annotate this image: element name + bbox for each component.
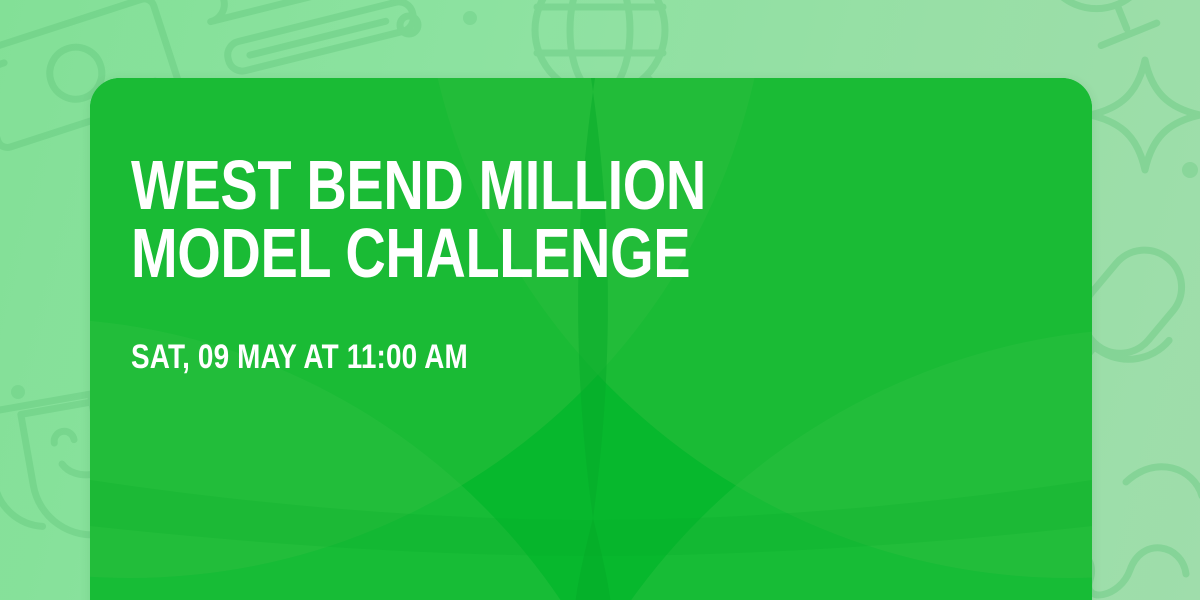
card-content: West Bend Million Model Challenge Sat, 0… [131,152,1032,374]
sparkle-icon [1090,60,1200,170]
event-title: West Bend Million Model Challenge [131,152,852,288]
event-datetime: Sat, 09 May at 11:00 AM [131,340,870,374]
ticket-icon [202,0,416,76]
event-card[interactable]: West Bend Million Model Challenge Sat, 0… [90,78,1092,600]
event-banner: West Bend Million Model Challenge Sat, 0… [0,0,1200,600]
trophy-icon [1012,0,1200,63]
confetti-dot-icon [400,16,418,34]
